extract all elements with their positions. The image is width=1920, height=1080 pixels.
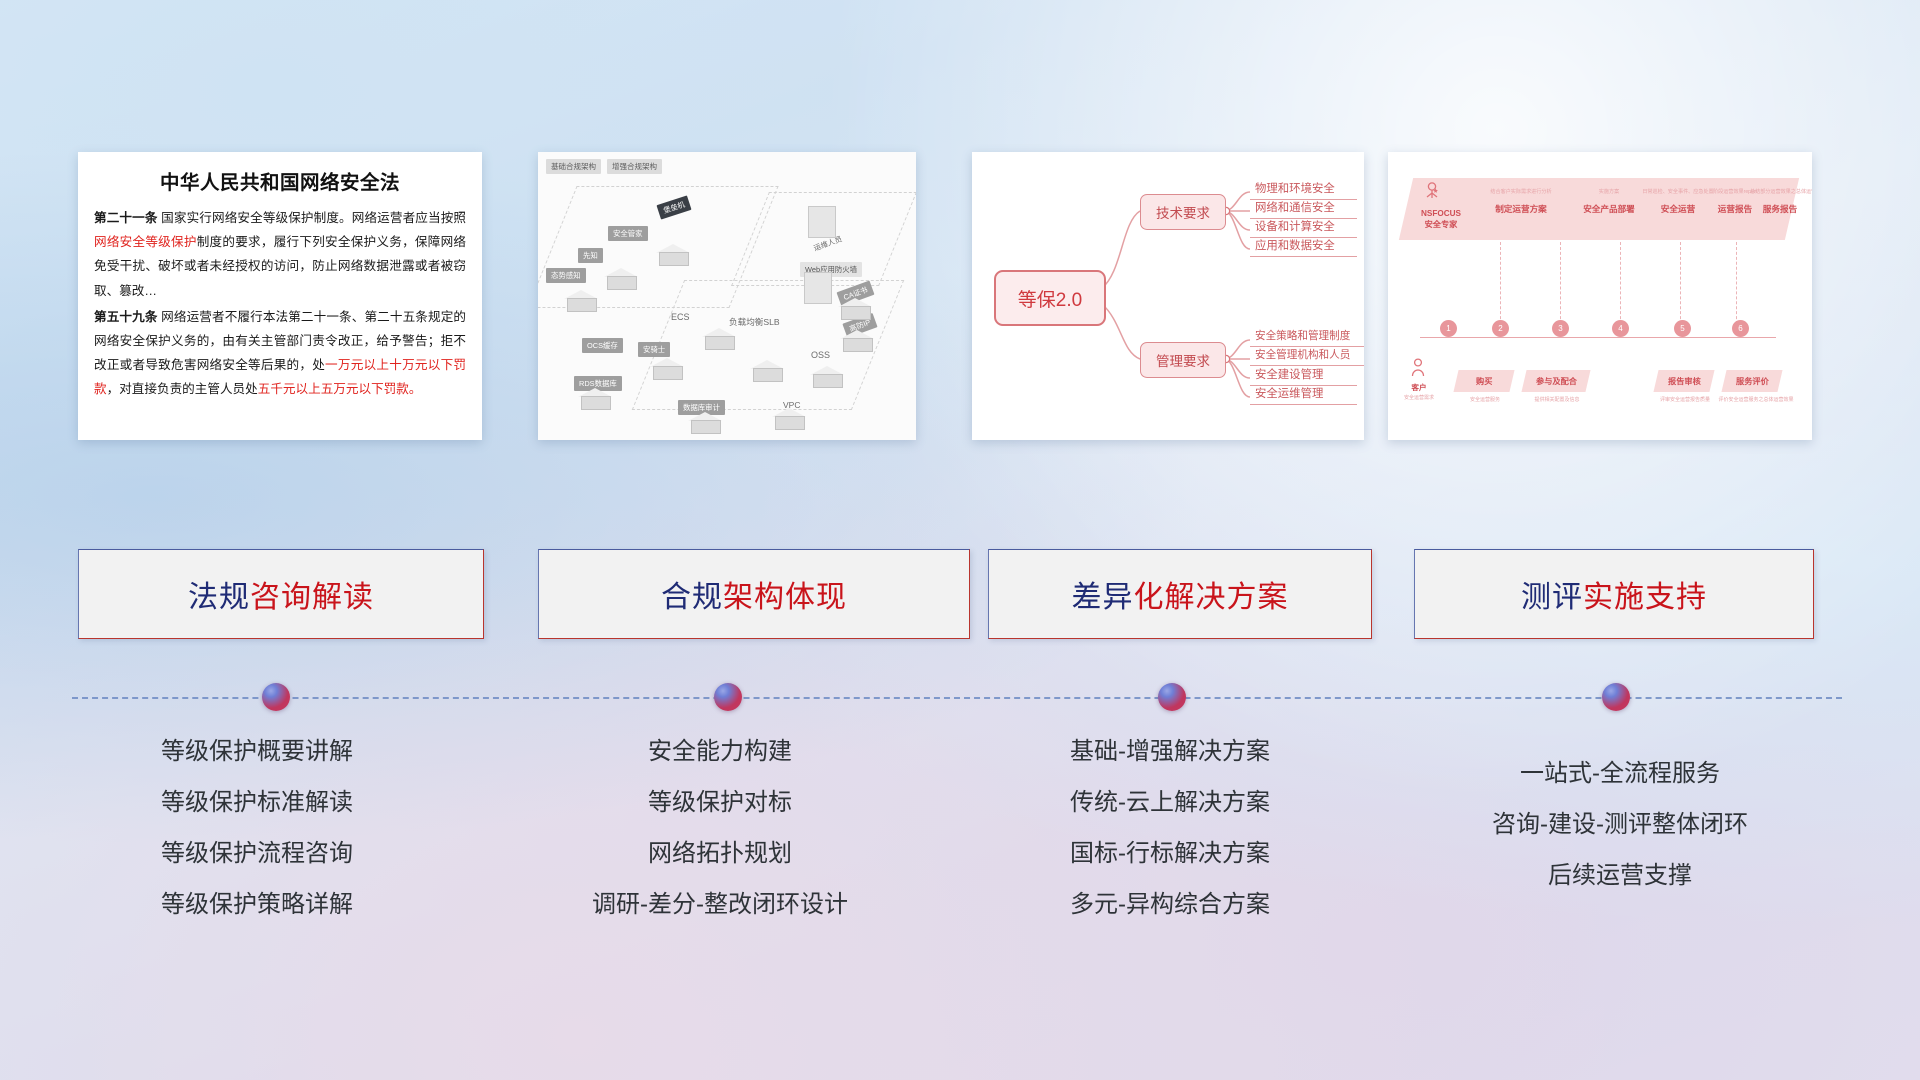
list-item: 传统-云上解决方案 [960, 791, 1380, 815]
timeline-marker-2[interactable] [714, 683, 742, 711]
headline-2-text: 合规架构体现 [661, 572, 847, 616]
timeline-marker-3[interactable] [1158, 683, 1186, 711]
headline-1-red: 咨询解读 [250, 581, 374, 614]
headline-box-2[interactable]: 合规架构体现 [538, 549, 970, 639]
list-item: 安全能力构建 [520, 740, 920, 764]
list-item: 调研-差分-整改闭环设计 [520, 893, 920, 917]
bullet-column-2: 安全能力构建 等级保护对标 网络拓扑规划 调研-差分-整改闭环设计 [520, 740, 920, 944]
list-item: 咨询-建设-测评整体闭环 [1410, 813, 1830, 837]
timeline-dashed-line [72, 697, 1842, 699]
headline-3-text: 差异化解决方案 [1072, 572, 1289, 616]
list-item: 国标-行标解决方案 [960, 842, 1380, 866]
list-item: 网络拓扑规划 [520, 842, 920, 866]
list-item: 基础-增强解决方案 [960, 740, 1380, 764]
headline-3-red: 化解决方案 [1134, 581, 1289, 614]
list-item: 后续运营支撑 [1410, 864, 1830, 888]
list-item: 多元-异构综合方案 [960, 893, 1380, 917]
bullet-column-1: 等级保护概要讲解 等级保护标准解读 等级保护流程咨询 等级保护策略详解 [72, 740, 442, 944]
headline-2-red: 架构体现 [723, 581, 847, 614]
headline-1-text: 法规咨询解读 [188, 572, 374, 616]
list-item: 等级保护对标 [520, 791, 920, 815]
bullet-column-4: 一站式-全流程服务 咨询-建设-测评整体闭环 后续运营支撑 [1410, 762, 1830, 915]
headline-box-3[interactable]: 差异化解决方案 [988, 549, 1372, 639]
timeline-marker-4[interactable] [1602, 683, 1630, 711]
list-item: 等级保护流程咨询 [72, 842, 442, 866]
list-item: 等级保护策略详解 [72, 893, 442, 917]
headline-box-1[interactable]: 法规咨询解读 [78, 549, 484, 639]
headline-4-text: 测评实施支持 [1521, 572, 1707, 616]
headline-2-blue: 合规 [661, 581, 723, 614]
bullet-column-3: 基础-增强解决方案 传统-云上解决方案 国标-行标解决方案 多元-异构综合方案 [960, 740, 1380, 944]
headline-4-red: 实施支持 [1583, 581, 1707, 614]
timeline-marker-1[interactable] [262, 683, 290, 711]
headline-box-4[interactable]: 测评实施支持 [1414, 549, 1814, 639]
list-item: 等级保护概要讲解 [72, 740, 442, 764]
headline-3-blue: 差异 [1072, 581, 1134, 614]
headline-1-blue: 法规 [188, 581, 250, 614]
headline-4-blue: 测评 [1521, 581, 1583, 614]
list-item: 一站式-全流程服务 [1410, 762, 1830, 786]
list-item: 等级保护标准解读 [72, 791, 442, 815]
timeline-track [72, 696, 1842, 700]
